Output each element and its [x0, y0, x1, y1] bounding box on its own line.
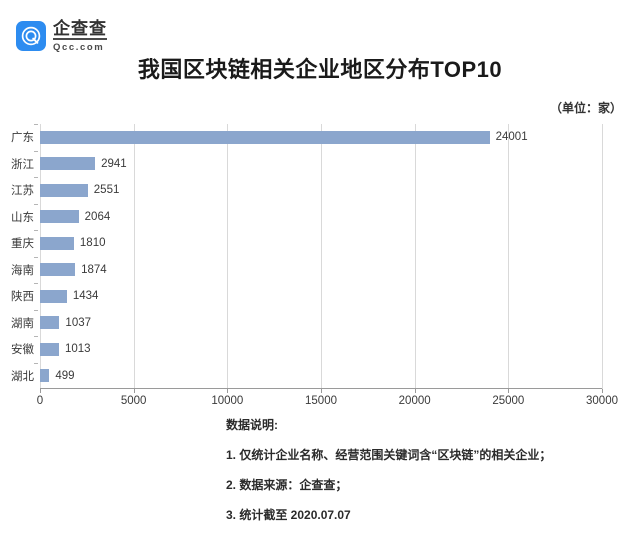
- y-axis-tick-mark: [34, 124, 38, 125]
- y-axis-label: 江苏: [11, 182, 34, 198]
- bar: [40, 157, 95, 170]
- bar-row: 1874: [40, 257, 602, 284]
- y-axis-tick-mark: [34, 177, 38, 178]
- bar-row: 2064: [40, 204, 602, 231]
- bar-series: 2400129412551206418101874143410371013499: [40, 124, 602, 389]
- bar: [40, 263, 75, 276]
- y-axis-label: 湖南: [11, 315, 34, 331]
- x-axis-tick-mark: [227, 389, 228, 393]
- x-axis-ticks: 050001000015000200002500030000: [40, 389, 602, 409]
- x-axis-tick-mark: [508, 389, 509, 393]
- bar: [40, 210, 79, 223]
- y-axis-label: 浙江: [11, 156, 34, 172]
- y-axis-tick-mark: [34, 230, 38, 231]
- brand-wordmark: 企查查 Qcc.com: [53, 20, 107, 53]
- bar: [40, 290, 67, 303]
- bar-row: 24001: [40, 124, 602, 151]
- y-axis-tick-mark: [34, 363, 38, 364]
- note-line: 3. 统计截至 2020.07.07: [226, 506, 626, 523]
- bar-value-label: 2064: [85, 211, 111, 223]
- qcc-logo-icon: [16, 21, 46, 51]
- bar-row: 2941: [40, 151, 602, 178]
- bar-value-label: 499: [55, 370, 74, 382]
- x-axis-tick-mark: [134, 389, 135, 393]
- bar-value-label: 1434: [73, 290, 99, 302]
- brand-name-cn: 企查查: [53, 20, 107, 40]
- y-axis-tick-mark: [34, 151, 38, 152]
- bar-value-label: 2941: [101, 158, 127, 170]
- note-line: 2. 数据来源：企查查；: [226, 476, 626, 493]
- data-notes: 数据说明: 1. 仅统计企业名称、经营范围关键词含“区块链”的相关企业；2. 数…: [226, 416, 626, 536]
- bar: [40, 237, 74, 250]
- y-axis-label: 湖北: [11, 368, 34, 384]
- gridline: [602, 124, 603, 389]
- x-axis-tick-label: 15000: [305, 395, 337, 407]
- x-axis-tick-mark: [321, 389, 322, 393]
- notes-heading: 数据说明:: [226, 416, 626, 433]
- note-line: 1. 仅统计企业名称、经营范围关键词含“区块链”的相关企业；: [226, 446, 626, 463]
- y-axis-label: 山东: [11, 209, 34, 225]
- y-axis-categories: 广东浙江江苏山东重庆海南陕西湖南安徽湖北: [0, 124, 38, 389]
- x-axis-tick-label: 30000: [586, 395, 618, 407]
- brand-logo: 企查查 Qcc.com: [16, 20, 107, 53]
- y-axis-label: 重庆: [11, 235, 34, 251]
- bar-value-label: 1037: [65, 317, 91, 329]
- y-axis-tick-mark: [34, 310, 38, 311]
- y-axis-tick-mark: [34, 283, 38, 284]
- bar: [40, 316, 59, 329]
- bar: [40, 131, 490, 144]
- y-axis-tick-mark: [34, 204, 38, 205]
- bar-row: 499: [40, 363, 602, 390]
- bar: [40, 184, 88, 197]
- x-axis-tick-mark: [602, 389, 603, 393]
- x-axis-tick-label: 5000: [121, 395, 147, 407]
- bar: [40, 343, 59, 356]
- bar-row: 1013: [40, 336, 602, 363]
- x-axis-tick-label: 25000: [492, 395, 524, 407]
- y-axis-tick-mark: [34, 257, 38, 258]
- x-axis-tick-mark: [40, 389, 41, 393]
- y-axis-label: 陕西: [11, 288, 34, 304]
- x-axis-tick-label: 10000: [211, 395, 243, 407]
- bar-row: 1434: [40, 283, 602, 310]
- bar-row: 1810: [40, 230, 602, 257]
- bar-value-label: 2551: [94, 184, 120, 196]
- y-axis-label: 安徽: [11, 341, 34, 357]
- bar-value-label: 1874: [81, 264, 107, 276]
- x-axis-tick-label: 0: [37, 395, 43, 407]
- chart-plot-area: 2400129412551206418101874143410371013499: [40, 124, 602, 389]
- x-axis-tick-mark: [415, 389, 416, 393]
- x-axis-tick-label: 20000: [399, 395, 431, 407]
- bar-value-label: 1810: [80, 237, 106, 249]
- bar: [40, 369, 49, 382]
- y-axis-tick-mark: [34, 336, 38, 337]
- bar-row: 2551: [40, 177, 602, 204]
- y-axis-label: 海南: [11, 262, 34, 278]
- bar-value-label: 1013: [65, 343, 91, 355]
- unit-label: （单位：家）: [550, 99, 622, 116]
- bar-value-label: 24001: [496, 131, 528, 143]
- bar-row: 1037: [40, 310, 602, 337]
- y-axis-label: 广东: [11, 129, 34, 145]
- page-title: 我国区块链相关企业地区分布TOP10: [0, 52, 640, 84]
